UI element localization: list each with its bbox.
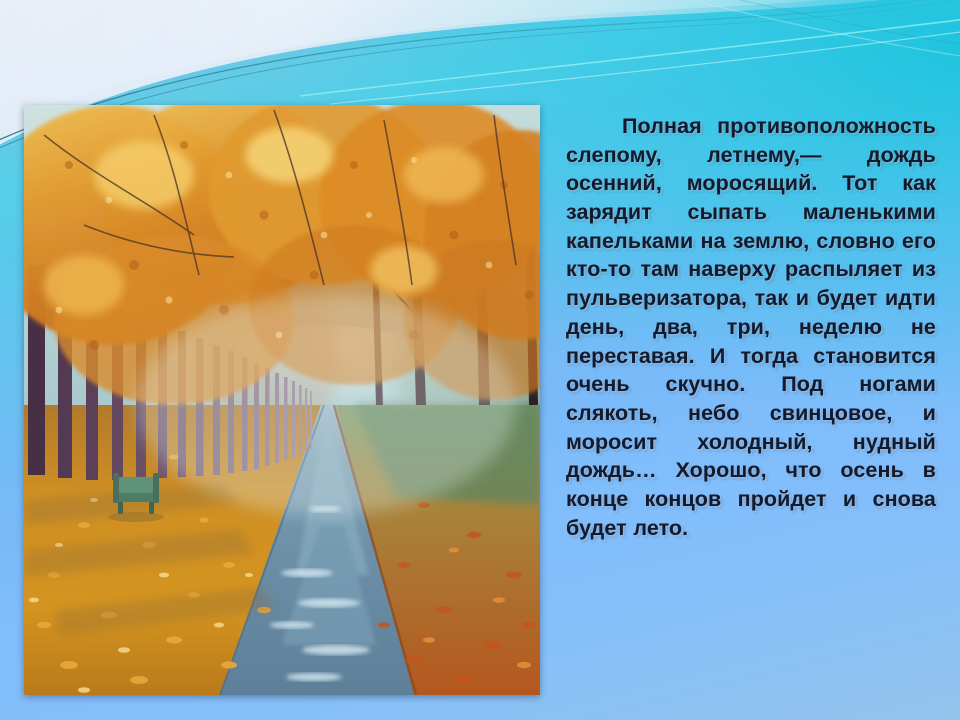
paragraph-body: Полная противоположность слепому, летнем… bbox=[566, 112, 936, 542]
autumn-rain-text-block: Полная противоположность слепому, летнем… bbox=[566, 112, 936, 542]
park-bench bbox=[108, 473, 164, 522]
autumn-park-illustration bbox=[24, 105, 540, 695]
slide-canvas: Полная противоположность слепому, летнем… bbox=[0, 0, 960, 720]
autumn-park-photo bbox=[24, 105, 540, 695]
photo-inner bbox=[24, 105, 540, 695]
